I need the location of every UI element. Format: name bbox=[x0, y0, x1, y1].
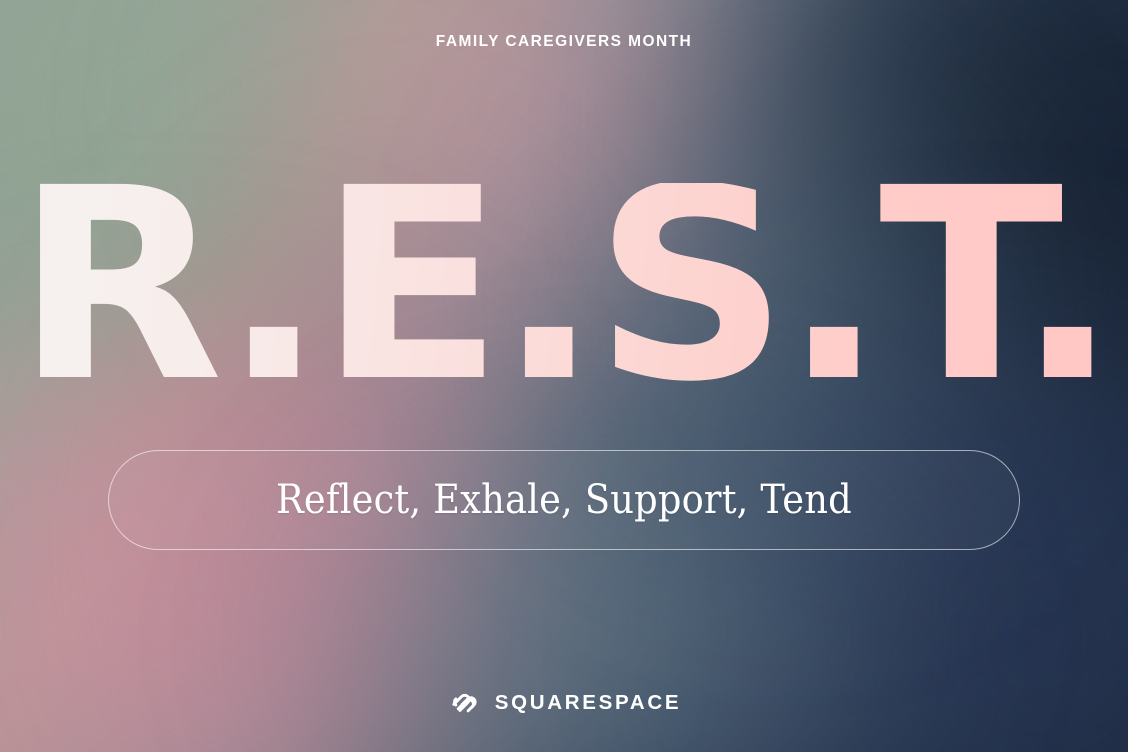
brand-lockup: SQUARESPACE bbox=[0, 686, 1128, 720]
title-container: R.E.S.T. bbox=[0, 183, 1128, 390]
subtitle-pill: Reflect, Exhale, Support, Tend bbox=[108, 450, 1020, 550]
page-title: R.E.S.T. bbox=[15, 183, 1113, 390]
squarespace-loop-icon bbox=[447, 686, 481, 720]
poster-content: FAMILY CAREGIVERS MONTH R.E.S.T. Reflect… bbox=[0, 0, 1128, 752]
poster-canvas: FAMILY CAREGIVERS MONTH R.E.S.T. Reflect… bbox=[0, 0, 1128, 752]
subtitle-text: Reflect, Exhale, Support, Tend bbox=[276, 477, 852, 523]
eyebrow-heading: FAMILY CAREGIVERS MONTH bbox=[0, 33, 1128, 51]
brand-wordmark: SQUARESPACE bbox=[495, 691, 682, 715]
